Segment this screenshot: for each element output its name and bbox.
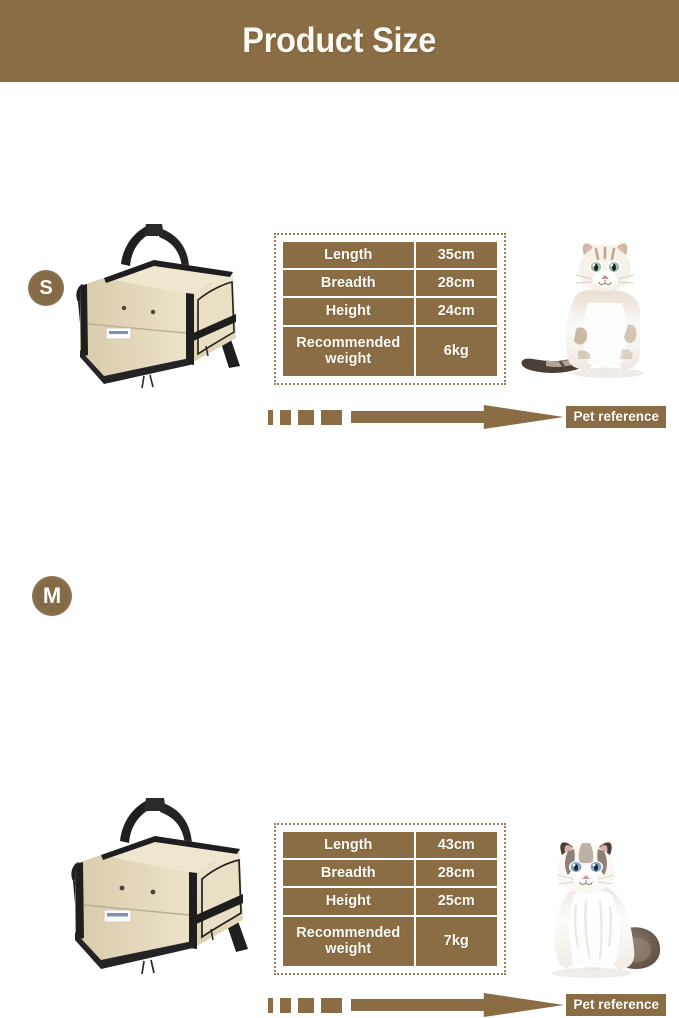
spec-label: Recommended weight bbox=[283, 327, 414, 376]
spec-label: Breadth bbox=[283, 270, 414, 296]
spec-value: 28cm bbox=[416, 270, 497, 296]
size-section-s: Length 35cm Breadth 28cm Height 24cm Rec… bbox=[0, 90, 679, 352]
spec-table-s: Length 35cm Breadth 28cm Height 24cm Rec… bbox=[274, 233, 506, 385]
size-badge-m: M bbox=[32, 576, 72, 616]
spec-label: Length bbox=[283, 832, 414, 858]
table-row: Recommended weight 6kg bbox=[283, 327, 497, 376]
table-row: Breadth 28cm bbox=[283, 270, 497, 296]
table-row: Length 35cm bbox=[283, 242, 497, 268]
page-title: Product Size bbox=[243, 21, 437, 61]
size-section-m: Length 43cm Breadth 28cm Height 25cm Rec… bbox=[0, 385, 679, 641]
table-row: Height 25cm bbox=[283, 888, 497, 914]
spec-value: 28cm bbox=[416, 860, 497, 886]
tabby-cat-sitting-icon bbox=[516, 233, 672, 390]
table-row: Height 24cm bbox=[283, 298, 497, 324]
spec-value: 6kg bbox=[416, 327, 497, 376]
spec-label: Breadth bbox=[283, 860, 414, 886]
spec-label: Recommended weight bbox=[283, 917, 414, 966]
right-arrow-icon bbox=[351, 992, 563, 1018]
size-badge-s: S bbox=[28, 270, 64, 306]
spec-value: 25cm bbox=[416, 888, 497, 914]
page-header-banner: Product Size bbox=[0, 0, 679, 82]
arrow-dash bbox=[268, 998, 273, 1013]
spec-label: Height bbox=[283, 888, 414, 914]
table-row: Length 43cm bbox=[283, 832, 497, 858]
spec-value: 43cm bbox=[416, 832, 497, 858]
spec-value: 7kg bbox=[416, 917, 497, 966]
arrow-dash bbox=[298, 998, 314, 1013]
pet-carrier-bag-icon bbox=[58, 216, 258, 394]
arrow-dash bbox=[280, 998, 291, 1013]
spec-label: Length bbox=[283, 242, 414, 268]
arrow-dash bbox=[321, 998, 342, 1013]
spec-value: 24cm bbox=[416, 298, 497, 324]
table-row: Recommended weight 7kg bbox=[283, 917, 497, 966]
spec-label: Height bbox=[283, 298, 414, 324]
pet-carrier-bag-icon bbox=[52, 789, 266, 979]
ragdoll-cat-sitting-icon bbox=[520, 829, 672, 981]
spec-value: 35cm bbox=[416, 242, 497, 268]
spec-table-m: Length 43cm Breadth 28cm Height 25cm Rec… bbox=[274, 823, 506, 975]
pet-reference-label: Pet reference bbox=[566, 994, 666, 1016]
pet-reference-arrow-m: Pet reference bbox=[268, 992, 666, 1018]
table-row: Breadth 28cm bbox=[283, 860, 497, 886]
